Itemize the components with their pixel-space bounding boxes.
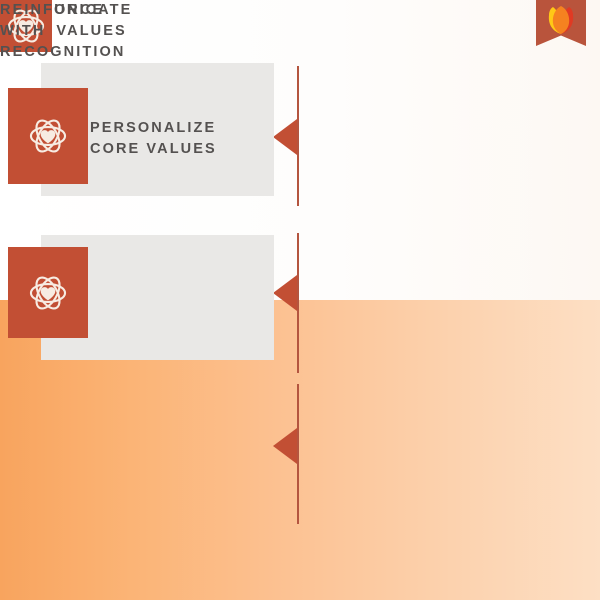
left-arrow-marker-1	[273, 119, 297, 155]
step-label-3: Reinforce with Recognition	[0, 0, 125, 63]
left-arrow-marker-3	[273, 428, 297, 464]
infographic-canvas: Personalize Core Values Communicate Core…	[0, 0, 600, 600]
atom-heart-icon	[22, 110, 74, 162]
step-icon-badge-2	[8, 247, 88, 338]
connector-line-1	[297, 66, 299, 206]
left-arrow-marker-2	[273, 275, 297, 311]
step-label-1: Personalize Core Values	[90, 118, 270, 160]
step-icon-badge-1	[8, 88, 88, 184]
connector-line-2	[297, 233, 299, 373]
flame-petals-icon	[544, 5, 578, 35]
atom-heart-icon	[22, 267, 74, 319]
connector-line-3	[297, 384, 299, 524]
brand-logo[interactable]	[536, 0, 586, 46]
